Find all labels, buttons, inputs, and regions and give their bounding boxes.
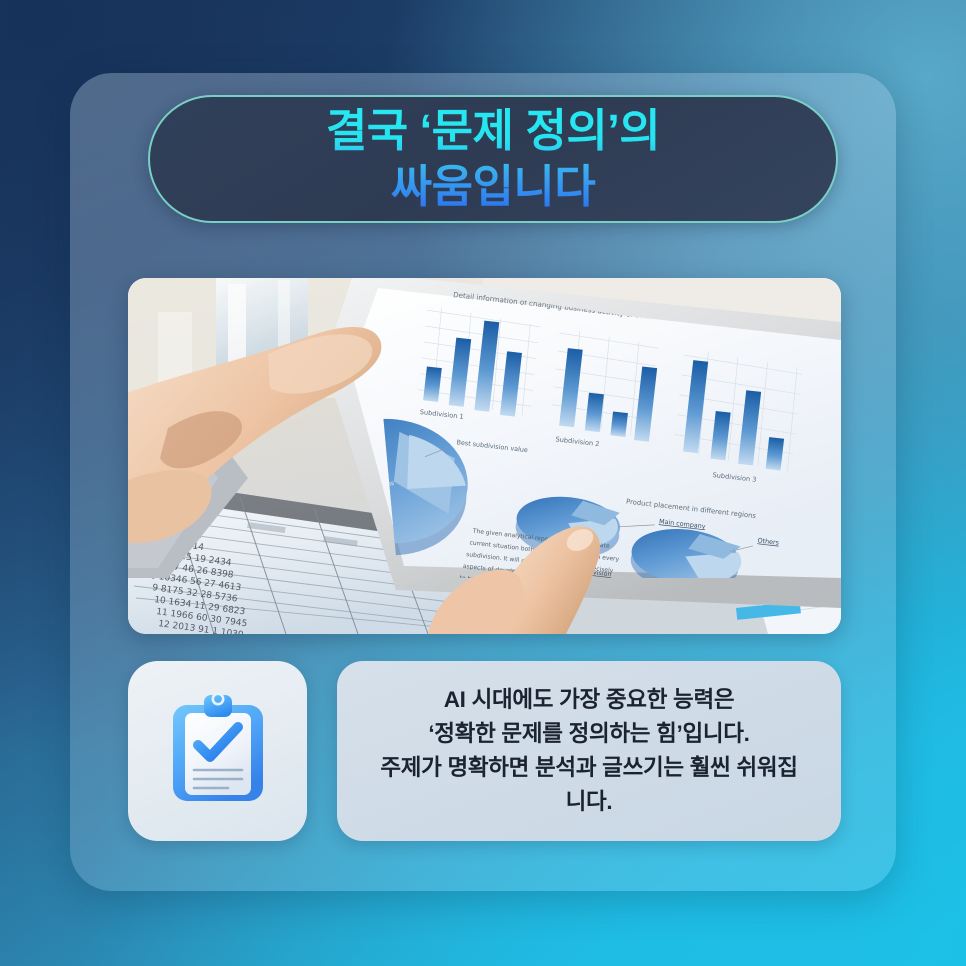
body-text: AI 시대에도 가장 중요한 능력은 ‘정확한 문제를 정의하는 힘’입니다. … [366,683,811,820]
poster-canvas: 결국 ‘문제 정의’의 싸움입니다 [0,0,966,966]
page-title: 결국 ‘문제 정의’의 싸움입니다 [308,103,678,215]
body-text-card: AI 시대에도 가장 중요한 능력은 ‘정확한 문제를 정의하는 힘’입니다. … [337,661,841,841]
photo-illustration: 2 1128 13 22 4 5414 23 14 6 7623 15 19 2… [128,278,841,634]
clipboard-check-icon [158,687,278,815]
tablet-business-photo: 2 1128 13 22 4 5414 23 14 6 7623 15 19 2… [128,278,841,634]
title-pill: 결국 ‘문제 정의’의 싸움입니다 [148,95,838,223]
clipboard-icon-tile [128,661,307,841]
